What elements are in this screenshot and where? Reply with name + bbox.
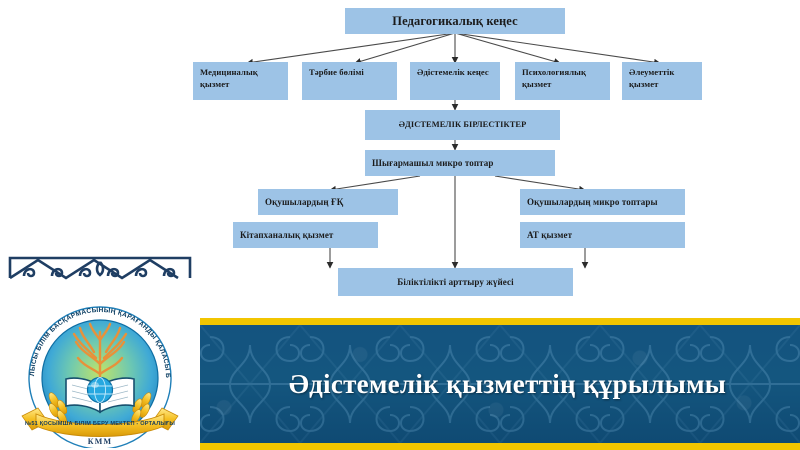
node-label: Әлеуметтік қызмет [629,67,695,90]
node-it-service[interactable]: АТ қызмет [520,222,685,248]
node-students-scientific-society[interactable]: Оқушылардың ҒҚ [258,189,398,215]
node-label: Кітапханалық қызмет [240,229,333,241]
node-pedagogical-council[interactable]: Педагогикалық кеңес [345,8,565,34]
node-library-service[interactable]: Кітапханалық қызмет [233,222,378,248]
node-label: Психологиялық қызмет [522,67,603,90]
node-label: Біліктілікті арттыру жүйесі [397,276,513,288]
node-social-service[interactable]: Әлеуметтік қызмет [622,62,702,100]
node-label: Әдістемелік кеңес [417,67,489,79]
node-label: АТ қызмет [527,229,572,241]
emblem-abbreviation: КММ [88,437,113,446]
slide-canvas: Педагогикалық кеңес Медициналық қызмет Т… [0,0,800,450]
node-psychological-service[interactable]: Психологиялық қызмет [515,62,610,100]
node-label: Оқушылардың микро топтары [527,196,658,208]
node-education-department[interactable]: Тәрбие бөлімі [302,62,397,100]
page-title: Әдістемелік қызметтің құрылымы [215,325,800,443]
node-label: Оқушылардың ҒҚ [265,196,343,208]
node-label: ӘДІСТЕМЕЛІК БІРЛЕСТІКТЕР [399,119,527,130]
node-methodical-associations[interactable]: ӘДІСТЕМЕЛІК БІРЛЕСТІКТЕР [365,110,560,140]
node-medical-service[interactable]: Медициналық қызмет [193,62,288,100]
node-label: Медициналық қызмет [200,67,281,90]
node-students-micro-groups[interactable]: Оқушылардың микро топтары [520,189,685,215]
kazakh-ornament-border-icon [8,254,192,280]
node-label: Тәрбие бөлімі [309,67,364,79]
node-qualification-improvement-system[interactable]: Біліктілікті арттыру жүйесі [338,268,573,296]
node-label: Педагогикалық кеңес [392,13,517,30]
emblem-ribbon-text: №51 ҚОСЫМША БІЛІМ БЕРУ МЕКТЕП - ОРТАЛЫҒЫ [25,421,176,427]
emblem-panel: ҚАРАҒАНДЫ ОБЛЫСЫ БІЛІМ БАСҚАРМАСЫНЫҢ ҚАР… [0,252,200,450]
globe-icon [88,378,113,403]
node-creative-micro-groups[interactable]: Шығармашыл микро топтар [365,150,555,176]
school-emblem: ҚАРАҒАНДЫ ОБЛЫСЫ БІЛІМ БАСҚАРМАСЫНЫҢ ҚАР… [8,282,192,448]
node-label: Шығармашыл микро топтар [372,157,493,169]
node-methodical-council[interactable]: Әдістемелік кеңес [410,62,500,100]
